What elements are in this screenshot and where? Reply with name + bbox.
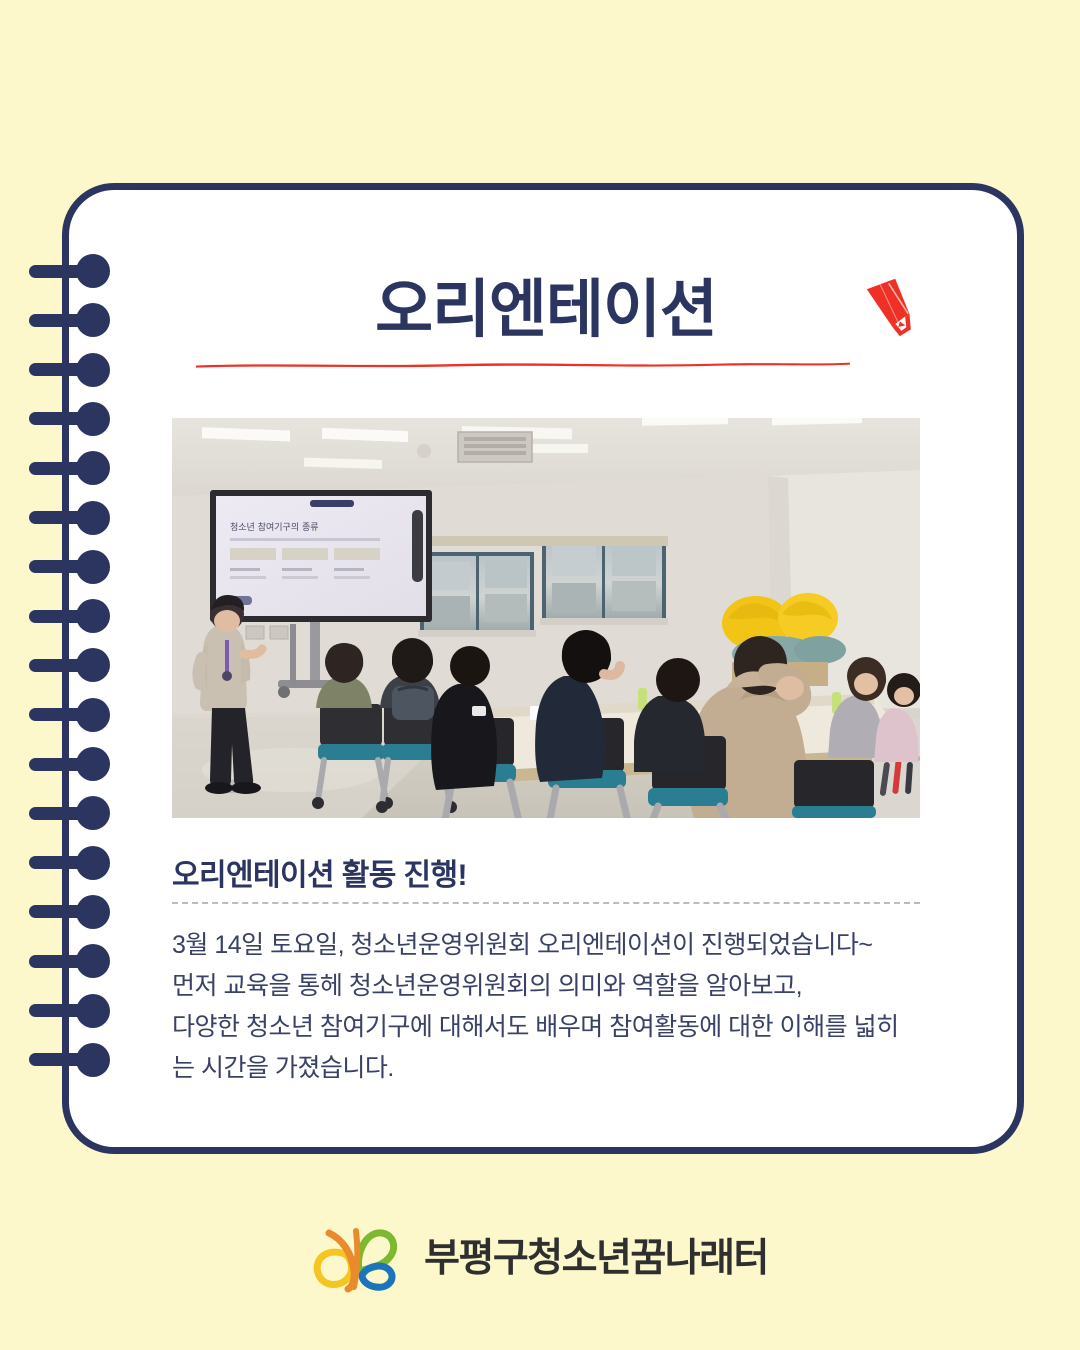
pencil-icon bbox=[854, 270, 928, 344]
section-subhead: 오리엔테이션 활동 진행! bbox=[172, 850, 467, 894]
body-line: 3월 14일 토요일, 청소년운영위원회 오리엔테이션이 진행되었습니다~ bbox=[172, 925, 944, 966]
organization-name: 부평구청소년꿈나래터 bbox=[424, 1227, 768, 1283]
activity-photo: 청소년 참여기구의 종류 bbox=[172, 418, 920, 818]
section-divider bbox=[172, 902, 920, 904]
body-line: 먼저 교육을 통헤 청소년운영위원회의 의미와 역할을 알아보고, bbox=[172, 966, 944, 1007]
body-line: 는 시간을 가졌습니다. bbox=[172, 1048, 944, 1089]
page-title: 오리엔테이션 bbox=[375, 279, 717, 342]
svg-text:청소년 참여기구의 종류: 청소년 참여기구의 종류 bbox=[230, 521, 319, 533]
title-underline bbox=[196, 356, 850, 365]
body-line: 다양한 청소년 참여기구에 대해서도 배우며 참여활동에 대한 이해를 넓히 bbox=[172, 1007, 944, 1048]
page-header: 오리엔테이션 bbox=[172, 262, 920, 358]
butterfly-logo-icon bbox=[312, 1217, 408, 1293]
body-paragraph: 3월 14일 토요일, 청소년운영위원회 오리엔테이션이 진행되었습니다~먼저 … bbox=[172, 925, 944, 1089]
footer: 부평구청소년꿈나래터 bbox=[0, 1210, 1080, 1300]
